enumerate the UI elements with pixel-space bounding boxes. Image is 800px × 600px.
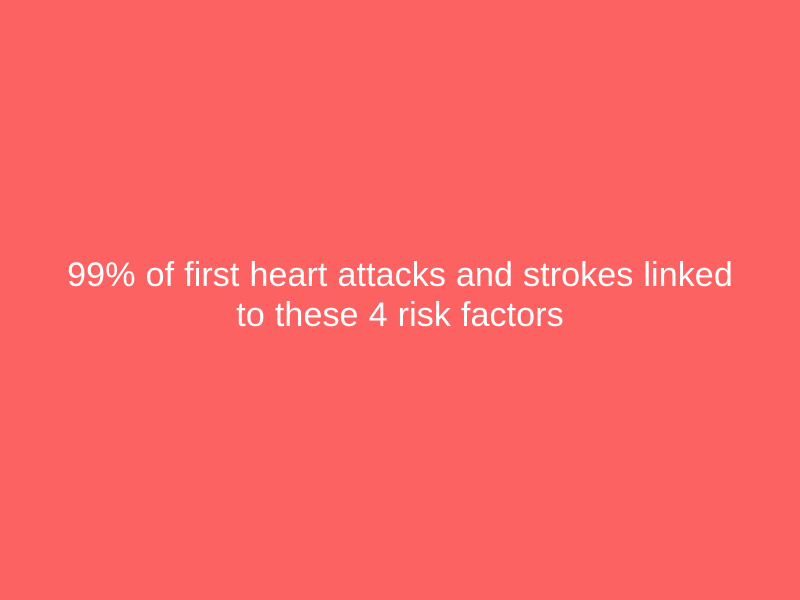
headline-line-1: 99% of first heart attacks and strokes l…	[40, 255, 760, 295]
headline-block: 99% of first heart attacks and strokes l…	[40, 255, 760, 335]
headline-line-2: to these 4 risk factors	[40, 295, 760, 335]
page-title: 99% of first heart attacks and strokes l…	[40, 255, 760, 335]
headline-card: 99% of first heart attacks and strokes l…	[0, 0, 800, 600]
